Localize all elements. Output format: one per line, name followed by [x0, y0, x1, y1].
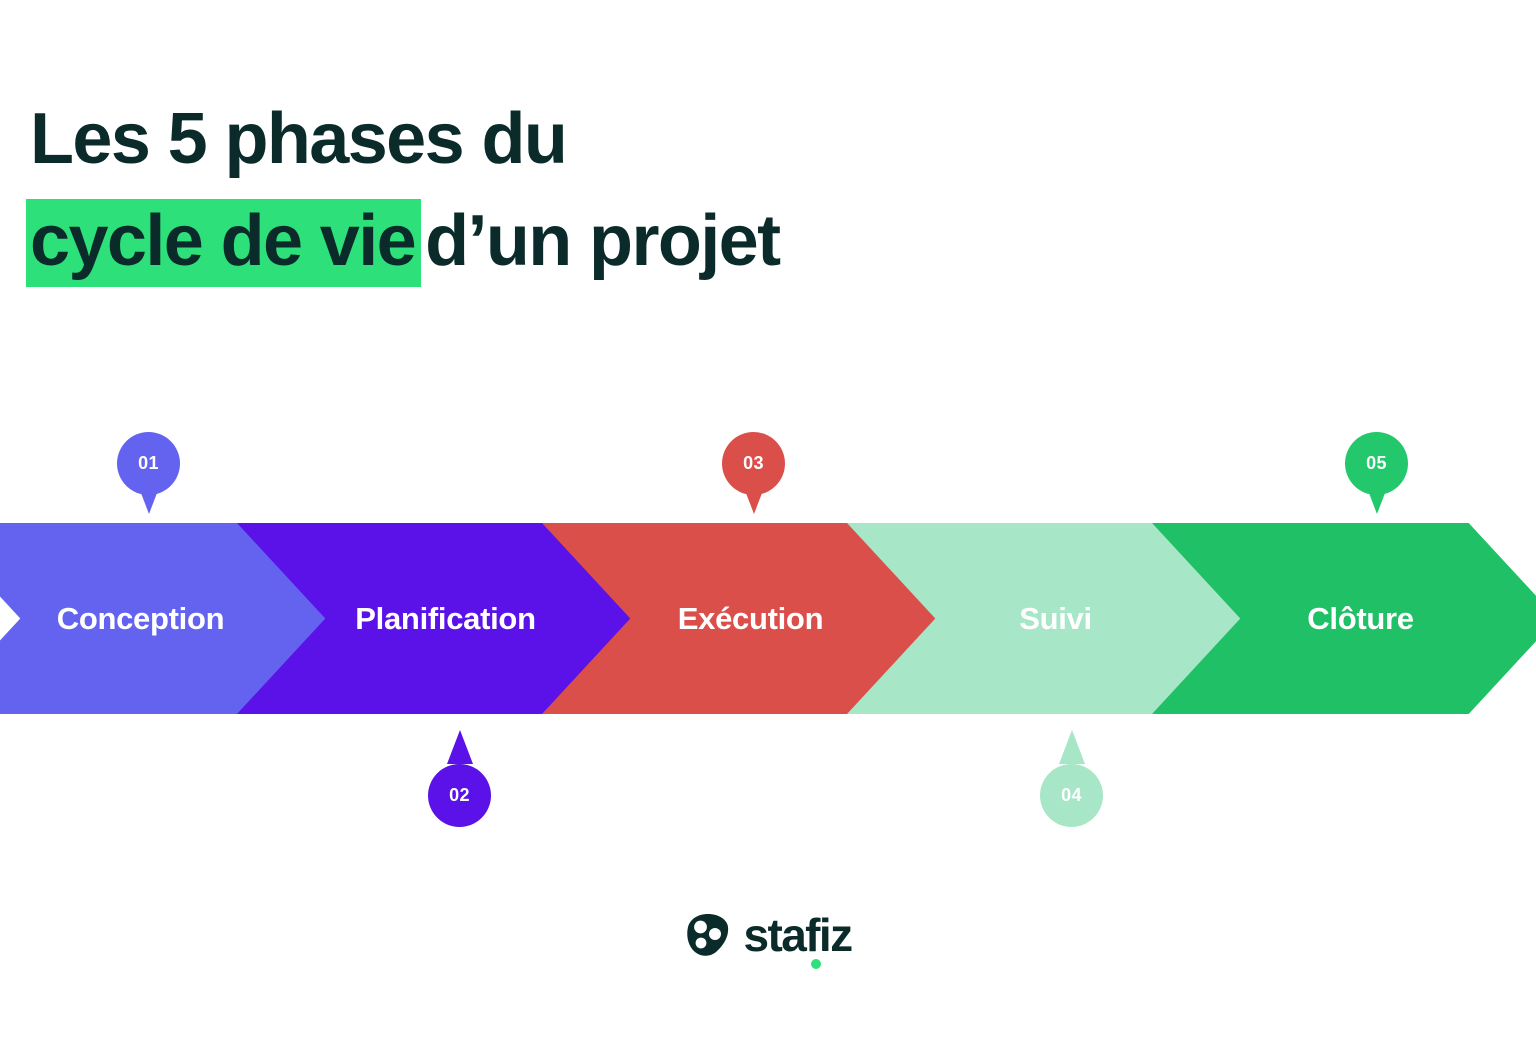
phase-pin-03[interactable]: 03	[722, 432, 785, 516]
phase-label: Planification	[355, 601, 535, 637]
title-line-1-text: Les 5 phases du	[30, 99, 566, 179]
page-title: Les 5 phases du cycle de vied’un projet	[30, 88, 1230, 292]
stafiz-wordmark-text: stafiz	[744, 909, 852, 961]
stafiz-wordmark: stafiz	[744, 912, 852, 958]
phase-label: Suivi	[1019, 601, 1092, 637]
pin-number: 02	[428, 785, 491, 806]
infographic-canvas: Les 5 phases du cycle de vied’un projet …	[0, 0, 1536, 1051]
phase-label: Exécution	[678, 601, 823, 637]
pin-number: 01	[117, 453, 180, 474]
phase-pin-05[interactable]: 05	[1345, 432, 1408, 516]
stafiz-pinwheel-icon	[685, 912, 731, 958]
phase-pin-02[interactable]: 02	[428, 743, 491, 827]
pin-number: 03	[722, 453, 785, 474]
phase-label: Clôture	[1307, 601, 1413, 637]
title-line-1: Les 5 phases du	[30, 88, 1230, 190]
title-line-2: cycle de vied’un projet	[30, 190, 1230, 292]
pin-tail-icon	[1059, 730, 1085, 764]
brand-logo: stafiz	[0, 912, 1536, 958]
phase-label: Conception	[57, 601, 225, 637]
phase-pin-04[interactable]: 04	[1040, 743, 1103, 827]
pin-number: 05	[1345, 453, 1408, 474]
title-highlight-text: cycle de vie	[26, 199, 421, 287]
pin-tail-icon	[447, 730, 473, 764]
stafiz-dot-icon	[811, 959, 821, 969]
phase-chevron-cloture[interactable]: Clôture	[1152, 523, 1536, 714]
phase-flow: Conception 01 Planification 02 Exécution…	[0, 413, 1536, 843]
title-plain-text: d’un projet	[421, 201, 779, 281]
phase-pin-01[interactable]: 01	[117, 432, 180, 516]
pin-number: 04	[1040, 785, 1103, 806]
